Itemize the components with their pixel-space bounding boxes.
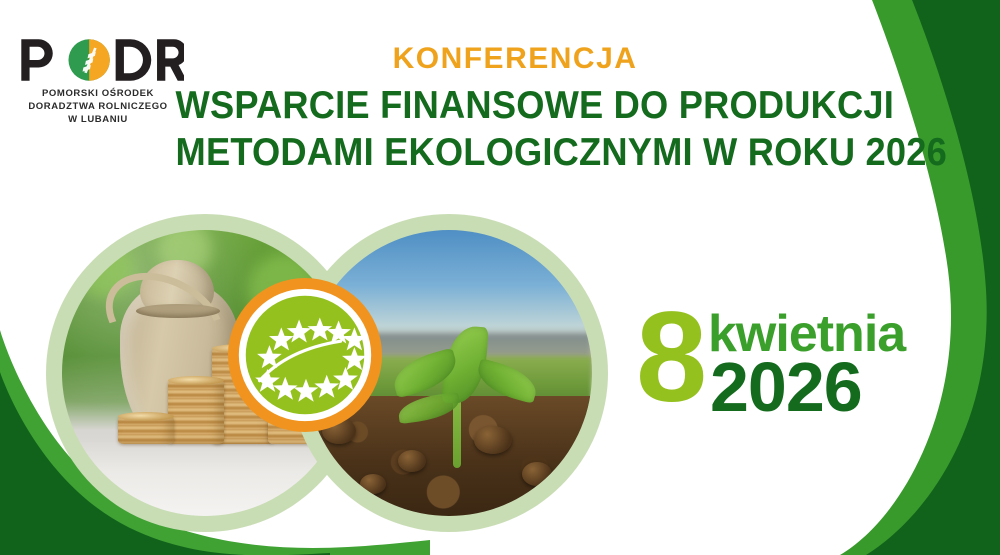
title-line-2: METODAMI EKOLOGICZNYMI W ROKU 2026 bbox=[176, 129, 855, 176]
title-line-1: WSPARCIE FINANSOWE DO PRODUKCJI bbox=[176, 82, 855, 129]
money-bag-tie bbox=[136, 304, 220, 318]
headline-block: KONFERENCJA WSPARCIE FINANSOWE DO PRODUK… bbox=[150, 42, 880, 176]
kicker-konferencja: KONFERENCJA bbox=[150, 42, 880, 76]
event-date-block: 8 kwietnia 2026 bbox=[636, 300, 906, 425]
conference-banner: POMORSKI OŚRODEK DORADZTWA ROLNICZEGO W … bbox=[0, 0, 1000, 555]
date-day: 8 bbox=[636, 294, 704, 422]
coin-stack-mid bbox=[168, 380, 224, 444]
date-year: 2026 bbox=[710, 352, 862, 422]
eu-organic-leaf-badge-icon bbox=[226, 276, 384, 434]
coin-stack-low-left bbox=[118, 416, 174, 444]
